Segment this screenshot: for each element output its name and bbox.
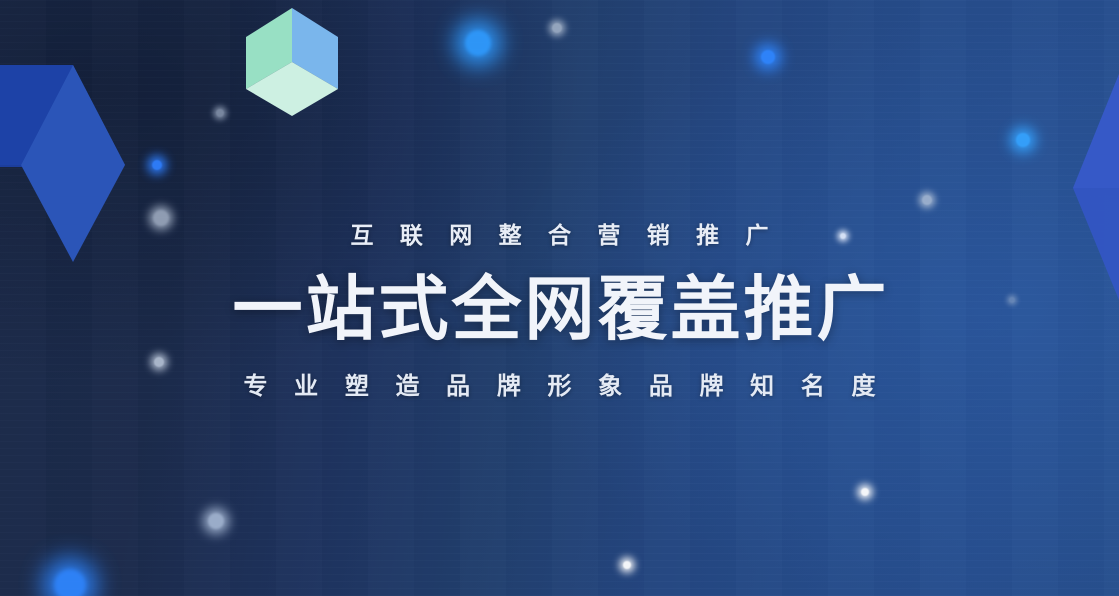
left-hexagon-bright-upper: [73, 65, 125, 165]
hero-text-block: 互 联 网 整 合 营 销 推 广 一站式全网覆盖推广 专 业 塑 造 品 牌 …: [0, 222, 1119, 402]
promo-banner: 互 联 网 整 合 营 销 推 广 一站式全网覆盖推广 专 业 塑 造 品 牌 …: [0, 0, 1119, 596]
isometric-cube-logo: [246, 8, 338, 116]
hero-headline: 一站式全网覆盖推广: [0, 272, 1119, 348]
right-triangle-highlight: [1073, 74, 1119, 188]
hero-eyebrow: 互 联 网 整 合 营 销 推 广: [0, 222, 1119, 250]
hero-subline: 专 业 塑 造 品 牌 形 象 品 牌 知 名 度: [0, 373, 1119, 402]
